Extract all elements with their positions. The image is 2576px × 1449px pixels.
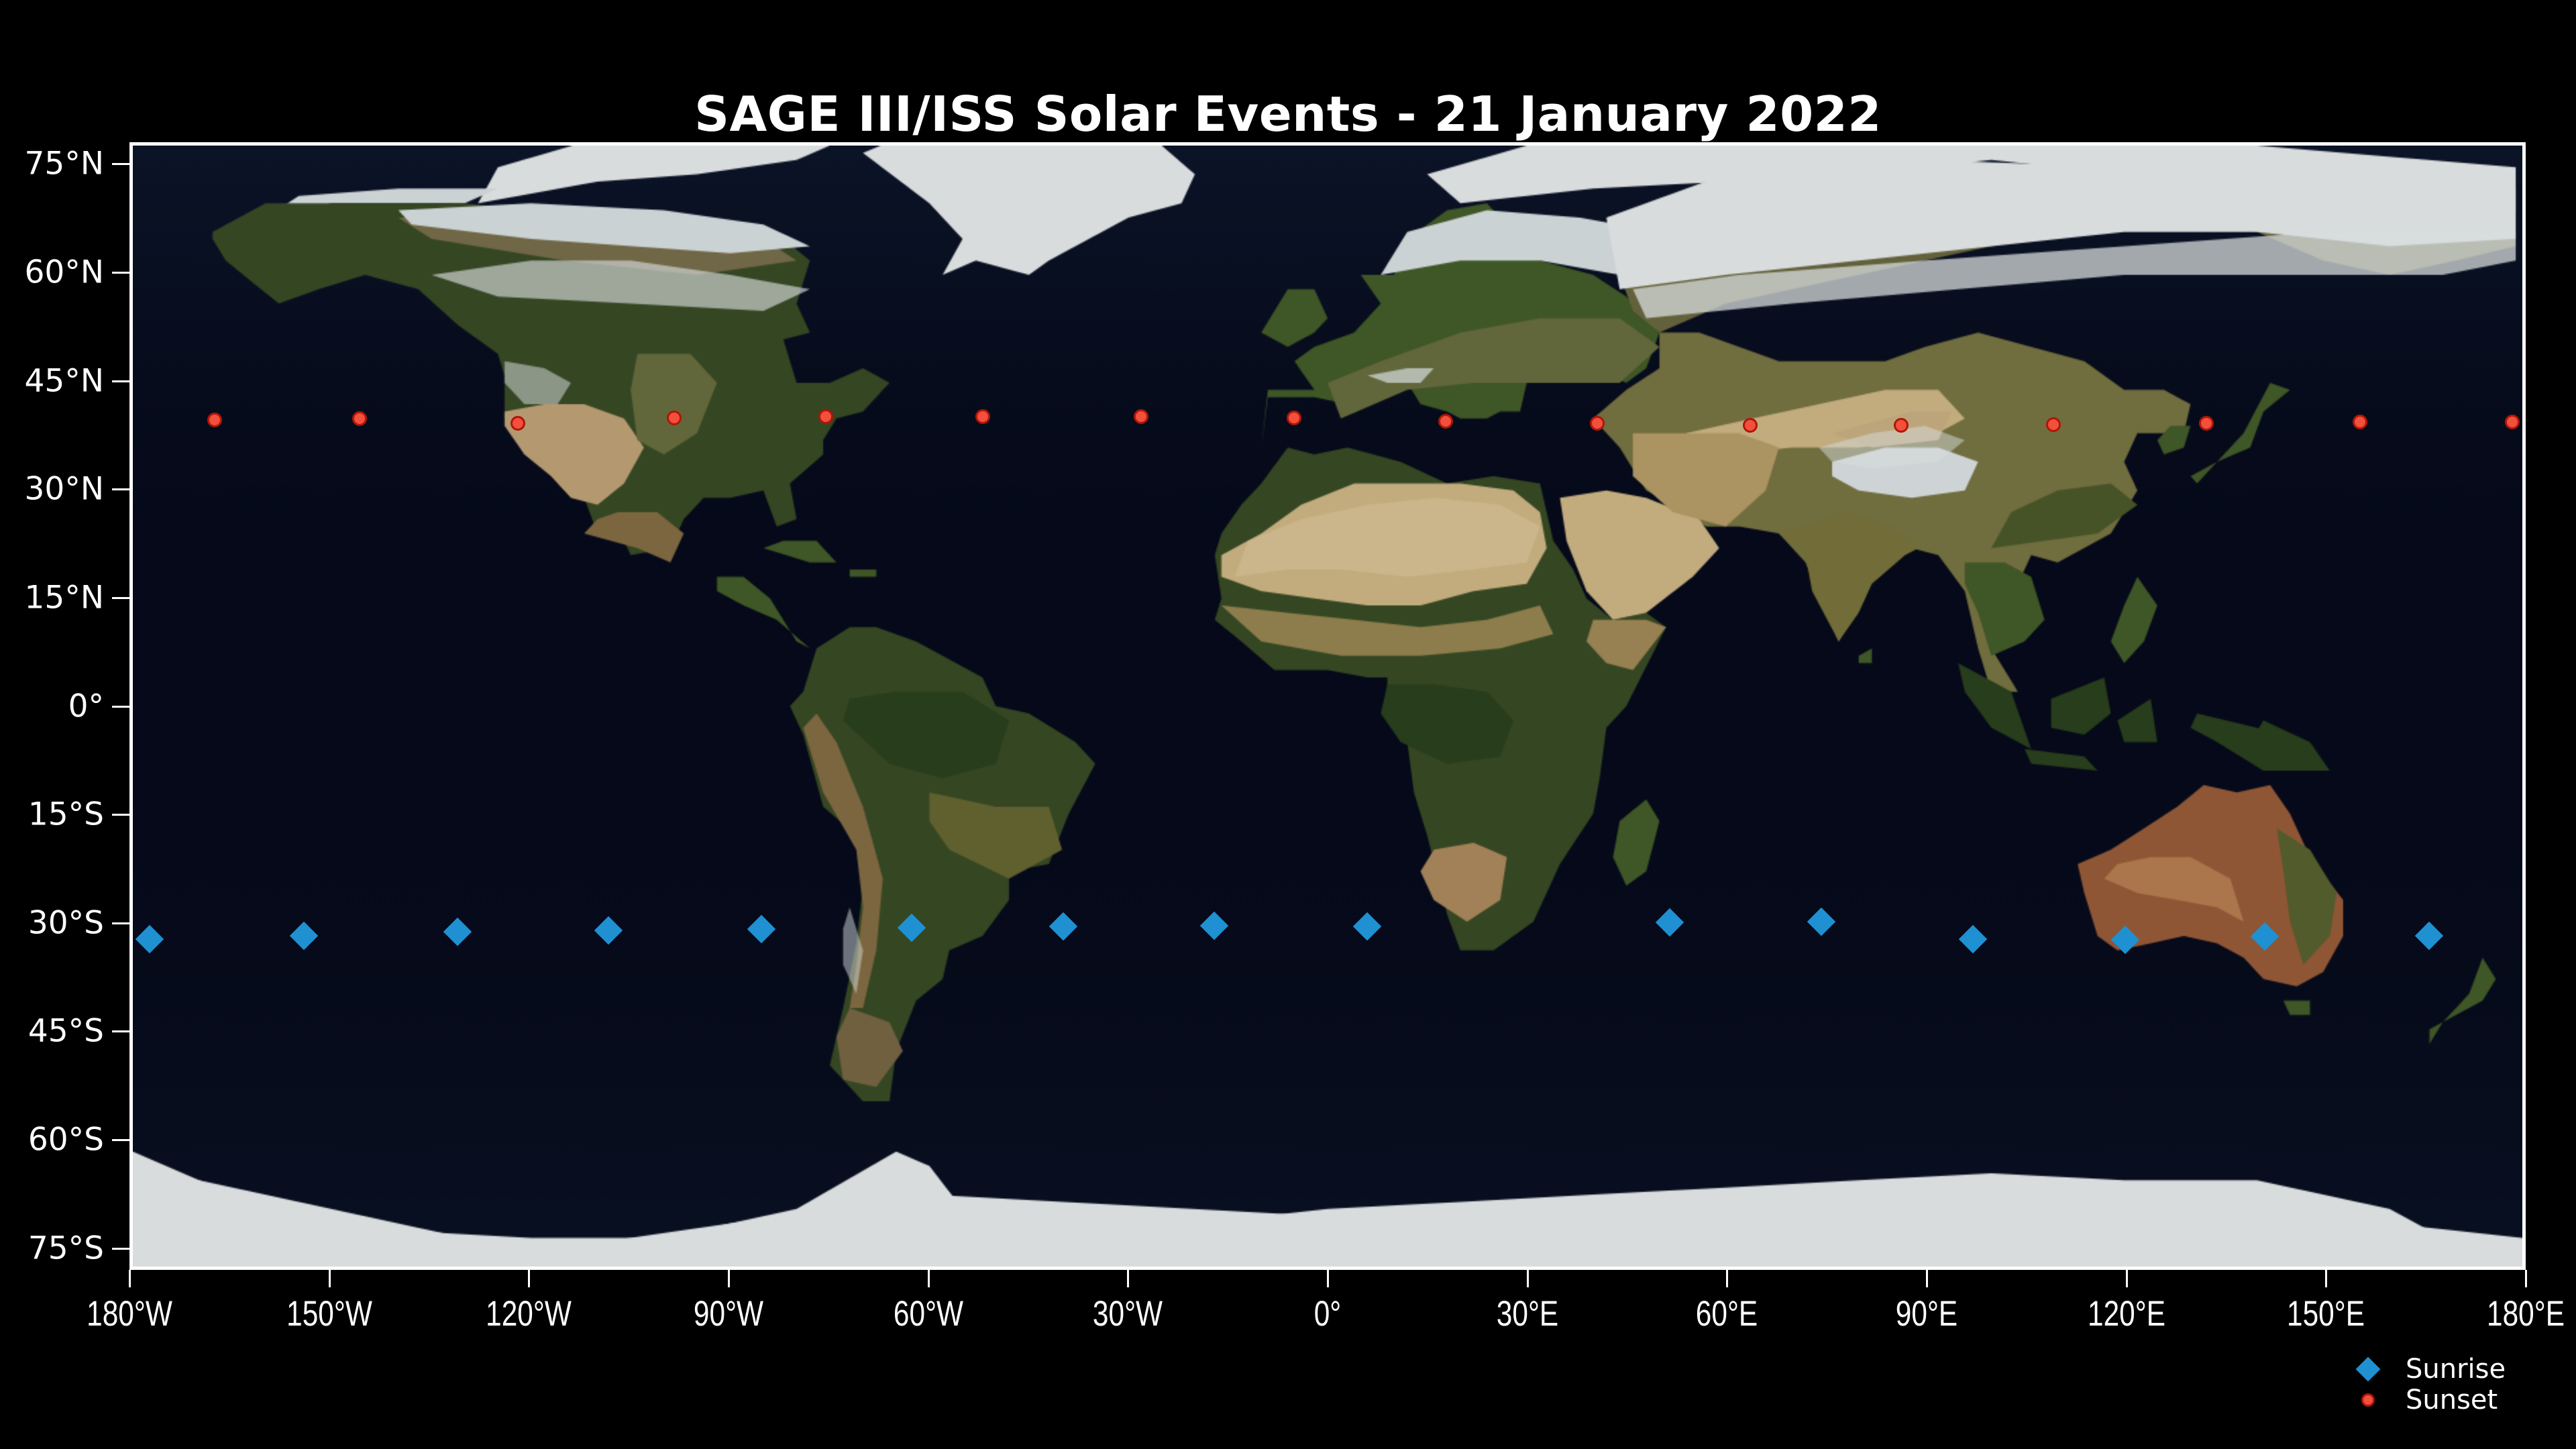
latitude-tick xyxy=(112,163,129,165)
longitude-tick xyxy=(129,1270,131,1287)
longitude-label: 60°W xyxy=(894,1293,963,1334)
longitude-label: 180°W xyxy=(87,1293,172,1334)
latitude-label: 75°S xyxy=(0,1230,104,1267)
latitude-tick xyxy=(112,597,129,599)
latitude-tick xyxy=(112,706,129,708)
longitude-tick xyxy=(1327,1270,1329,1287)
longitude-tick xyxy=(1926,1270,1928,1287)
map-plot-area xyxy=(129,142,2526,1270)
latitude-tick xyxy=(112,272,129,274)
latitude-label: 15°S xyxy=(0,796,104,833)
legend: SunriseSunset xyxy=(2368,1354,2569,1415)
world-basemap-image xyxy=(133,146,2522,1267)
latitude-label: 30°N xyxy=(0,471,104,508)
latitude-label: 60°S xyxy=(0,1122,104,1159)
legend-label: Sunrise xyxy=(2406,1354,2506,1385)
sunrise-legend-icon xyxy=(2356,1357,2381,1382)
longitude-label: 120°E xyxy=(2088,1293,2165,1334)
longitude-label: 90°W xyxy=(694,1293,763,1334)
legend-item: Sunrise xyxy=(2368,1354,2569,1385)
longitude-label: 150°W xyxy=(286,1293,372,1334)
latitude-label: 75°N xyxy=(0,146,104,182)
latitude-tick xyxy=(112,1248,129,1250)
latitude-tick xyxy=(112,814,129,816)
latitude-tick xyxy=(112,922,129,924)
legend-item: Sunset xyxy=(2368,1385,2569,1415)
latitude-tick xyxy=(112,380,129,382)
latitude-tick xyxy=(112,1139,129,1141)
latitude-label: 30°S xyxy=(0,904,104,941)
longitude-tick xyxy=(528,1270,530,1287)
latitude-tick xyxy=(112,1030,129,1032)
longitude-label: 0° xyxy=(1314,1293,1342,1334)
longitude-tick xyxy=(1527,1270,1529,1287)
latitude-label: 45°S xyxy=(0,1013,104,1050)
longitude-tick xyxy=(329,1270,331,1287)
longitude-tick xyxy=(1127,1270,1129,1287)
latitude-label: 15°N xyxy=(0,579,104,616)
longitude-label: 90°E xyxy=(1896,1293,1957,1334)
longitude-tick xyxy=(2325,1270,2327,1287)
latitude-label: 60°N xyxy=(0,254,104,290)
longitude-label: 60°E xyxy=(1696,1293,1758,1334)
longitude-tick xyxy=(1726,1270,1728,1287)
longitude-label: 150°E xyxy=(2287,1293,2365,1334)
longitude-tick xyxy=(928,1270,930,1287)
longitude-label: 180°E xyxy=(2487,1293,2565,1334)
longitude-tick xyxy=(2525,1270,2527,1287)
longitude-tick xyxy=(2126,1270,2128,1287)
latitude-tick xyxy=(112,488,129,490)
sunset-legend-icon xyxy=(2361,1393,2375,1407)
longitude-label: 30°E xyxy=(1496,1293,1558,1334)
figure-root: SAGE III/ISS Solar Events - 21 January 2… xyxy=(0,0,2576,1449)
legend-label: Sunset xyxy=(2406,1385,2498,1415)
longitude-label: 30°W xyxy=(1093,1293,1163,1334)
latitude-label: 0° xyxy=(0,688,104,724)
longitude-label: 120°W xyxy=(486,1293,572,1334)
page-title: SAGE III/ISS Solar Events - 21 January 2… xyxy=(0,86,2576,142)
latitude-label: 45°N xyxy=(0,362,104,399)
longitude-tick xyxy=(728,1270,730,1287)
